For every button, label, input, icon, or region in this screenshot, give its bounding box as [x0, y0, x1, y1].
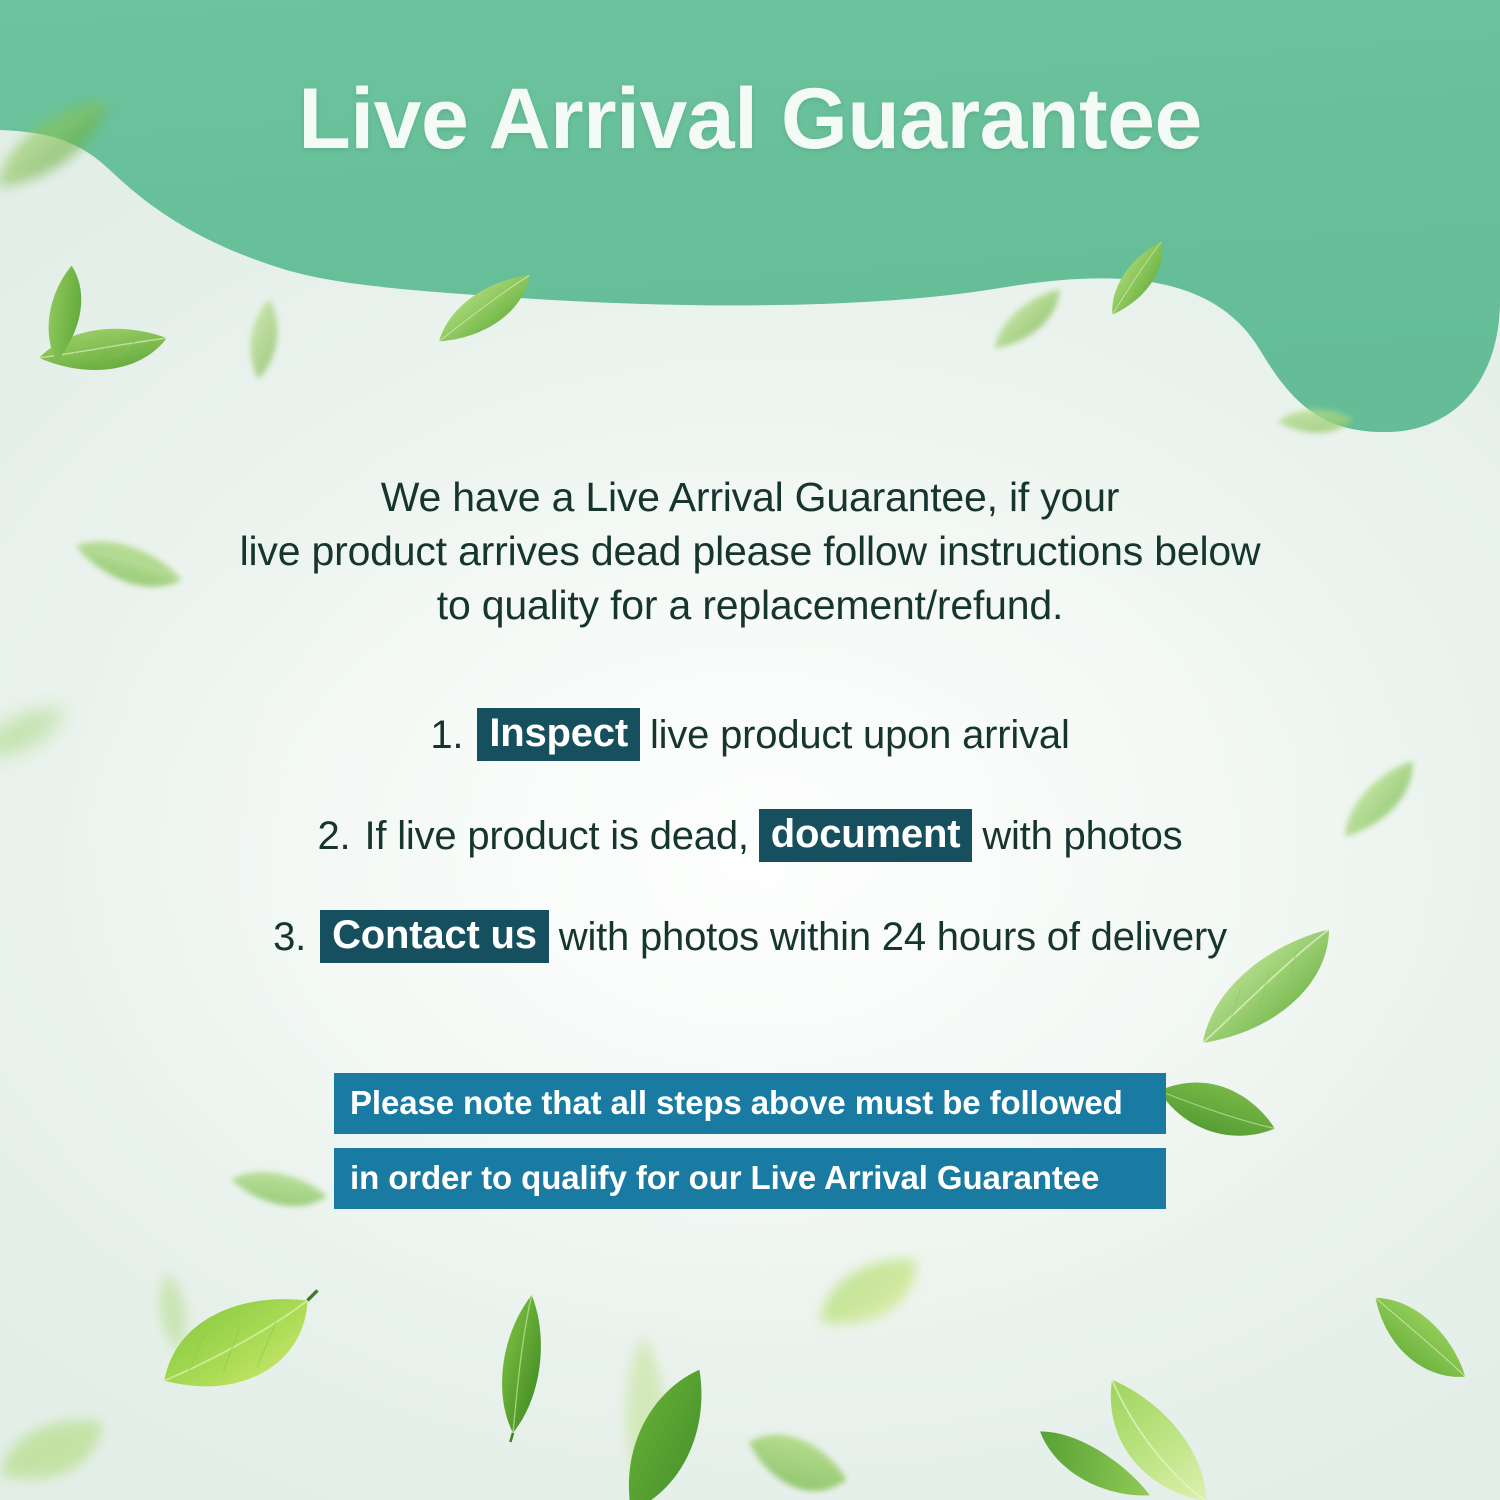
step-item: 3. Contact us with photos within 24 hour…: [273, 910, 1227, 963]
step-number: 3.: [273, 916, 306, 958]
intro-line-2: live product arrives dead please follow …: [150, 524, 1350, 578]
step-text-after: with photos within 24 hours of delivery: [559, 916, 1227, 958]
step-text-before: If live product is dead,: [364, 815, 748, 857]
poster-canvas: Live Arrival Guarantee: [0, 0, 1500, 1500]
leaf-icon: [603, 1327, 691, 1500]
page-title: Live Arrival Guarantee: [0, 76, 1500, 162]
intro-paragraph: We have a Live Arrival Guarantee, if you…: [150, 470, 1350, 632]
step-text-after: with photos: [982, 815, 1182, 857]
step-item: 1. Inspect live product upon arrival: [430, 708, 1069, 761]
leaf-icon: [724, 1397, 866, 1500]
leaf-icon: [149, 1268, 196, 1356]
step-highlight-contact-us[interactable]: Contact us: [320, 910, 549, 963]
leaf-icon: [581, 1363, 745, 1500]
note-line-2: in order to qualify for our Live Arrival…: [334, 1148, 1166, 1209]
intro-line-1: We have a Live Arrival Guarantee, if you…: [150, 470, 1350, 524]
leaf-icon: [1352, 1268, 1479, 1412]
step-highlight-inspect[interactable]: Inspect: [477, 708, 640, 761]
step-text-after: live product upon arrival: [650, 714, 1070, 756]
leaf-icon: [0, 1402, 120, 1500]
note-block: Please note that all steps above must be…: [0, 1073, 1500, 1209]
step-number: 2.: [318, 815, 351, 857]
leaf-icon: [803, 1239, 941, 1355]
step-number: 1.: [430, 714, 463, 756]
intro-line-3: to quality for a replacement/refund.: [150, 578, 1350, 632]
note-line-1: Please note that all steps above must be…: [334, 1073, 1166, 1134]
step-item: 2. If live product is dead, document wit…: [318, 809, 1183, 862]
main-content: We have a Live Arrival Guarantee, if you…: [0, 470, 1500, 1209]
leaf-icon: [477, 1289, 562, 1442]
leaf-icon: [1024, 1360, 1236, 1500]
steps-list: 1. Inspect live product upon arrival 2. …: [0, 708, 1500, 963]
step-highlight-document[interactable]: document: [759, 809, 973, 862]
leaf-icon: [147, 1279, 332, 1421]
